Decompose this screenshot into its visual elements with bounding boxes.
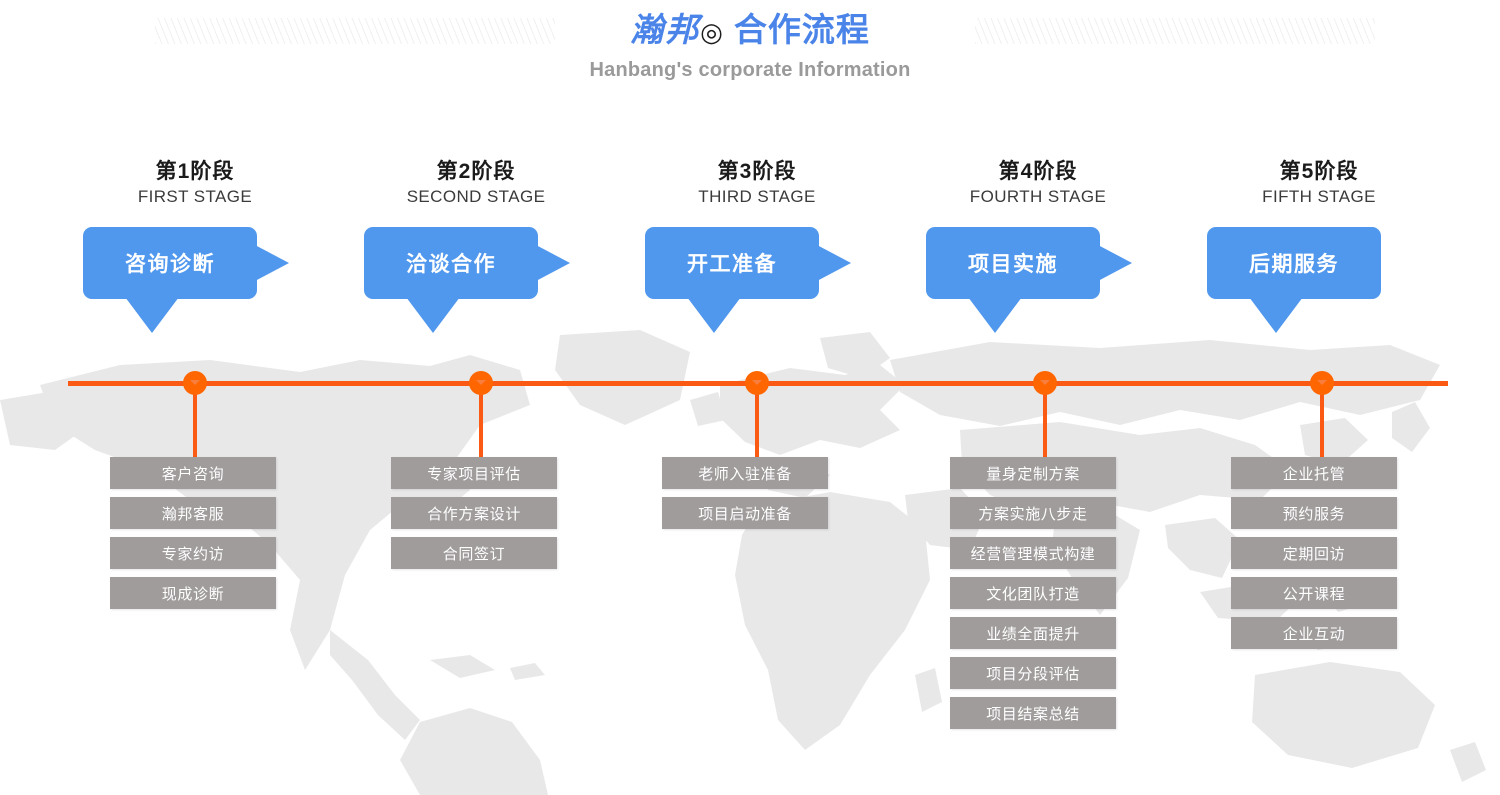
stage-item[interactable]: 项目结案总结 xyxy=(950,697,1116,729)
stage-callout[interactable]: 开工准备 xyxy=(617,227,897,337)
stage-item-label: 合作方案设计 xyxy=(427,503,521,524)
page-title: 瀚邦◎合作流程 xyxy=(0,8,1500,54)
timeline-connector-5 xyxy=(1320,386,1324,457)
callout-box[interactable]: 咨询诊断 xyxy=(83,227,257,299)
timeline-marker-3[interactable] xyxy=(745,371,769,395)
stage-item[interactable]: 预约服务 xyxy=(1231,497,1397,529)
stage-item[interactable]: 客户咨询 xyxy=(110,457,276,489)
stage-item[interactable]: 方案实施八步走 xyxy=(950,497,1116,529)
stage-item[interactable]: 专家项目评估 xyxy=(391,457,557,489)
stage-callout[interactable]: 咨询诊断 xyxy=(55,227,335,337)
stage-item[interactable]: 文化团队打造 xyxy=(950,577,1116,609)
callout-arrow-icon xyxy=(536,245,570,281)
stage-item-label: 经营管理模式构建 xyxy=(971,543,1096,564)
stage-title-en: FOURTH STAGE xyxy=(898,185,1178,209)
stage-column-5: 第5阶段FIFTH STAGE后期服务 xyxy=(1179,158,1459,337)
stage-item-list-4: 量身定制方案方案实施八步走经营管理模式构建文化团队打造业绩全面提升项目分段评估项… xyxy=(950,457,1116,737)
stage-item[interactable]: 现成诊断 xyxy=(110,577,276,609)
stage-item[interactable]: 经营管理模式构建 xyxy=(950,537,1116,569)
stage-item-list-2: 专家项目评估合作方案设计合同签订 xyxy=(391,457,557,577)
callout-tail-icon xyxy=(687,297,741,333)
callout-label: 开工准备 xyxy=(687,248,777,278)
stage-item-label: 企业互动 xyxy=(1283,623,1345,644)
timeline-marker-1[interactable] xyxy=(183,371,207,395)
callout-box[interactable]: 项目实施 xyxy=(926,227,1100,299)
callout-label: 后期服务 xyxy=(1249,248,1339,278)
stage-item[interactable]: 企业互动 xyxy=(1231,617,1397,649)
stage-title-cn: 第1阶段 xyxy=(55,158,335,185)
stage-item-label: 现成诊断 xyxy=(162,583,224,604)
stage-item-label: 量身定制方案 xyxy=(986,463,1080,484)
stage-callout[interactable]: 后期服务 xyxy=(1179,227,1459,337)
timeline-connector-1 xyxy=(193,386,197,457)
stage-item-label: 项目结案总结 xyxy=(986,703,1080,724)
page-header: 瀚邦◎合作流程 Hanbang's corporate Information xyxy=(0,8,1500,82)
timeline-connector-2 xyxy=(479,386,483,457)
stage-item-label: 公开课程 xyxy=(1283,583,1345,604)
timeline-connector-4 xyxy=(1043,386,1047,457)
timeline-marker-5[interactable] xyxy=(1310,371,1334,395)
brand-name: 瀚邦 xyxy=(630,11,700,48)
timeline-marker-2[interactable] xyxy=(469,371,493,395)
stage-item-label: 方案实施八步走 xyxy=(978,503,1087,524)
callout-arrow-icon xyxy=(817,245,851,281)
infographic-canvas: 瀚邦◎合作流程 Hanbang's corporate Information … xyxy=(0,0,1500,795)
stage-item-label: 专家约访 xyxy=(162,543,224,564)
stage-item-label: 业绩全面提升 xyxy=(986,623,1080,644)
stage-item-label: 项目分段评估 xyxy=(986,663,1080,684)
stage-column-4: 第4阶段FOURTH STAGE项目实施 xyxy=(898,158,1178,337)
callout-tail-icon xyxy=(1249,297,1303,333)
stage-item[interactable]: 项目启动准备 xyxy=(662,497,828,529)
page-subtitle: Hanbang's corporate Information xyxy=(0,59,1500,82)
stage-item-label: 预约服务 xyxy=(1283,503,1345,524)
stage-title-en: FIRST STAGE xyxy=(55,185,335,209)
callout-label: 洽谈合作 xyxy=(406,248,496,278)
stage-item-label: 专家项目评估 xyxy=(427,463,521,484)
callout-box[interactable]: 洽谈合作 xyxy=(364,227,538,299)
callout-box[interactable]: 开工准备 xyxy=(645,227,819,299)
stage-item[interactable]: 定期回访 xyxy=(1231,537,1397,569)
callout-label: 咨询诊断 xyxy=(125,248,215,278)
stage-item[interactable]: 专家约访 xyxy=(110,537,276,569)
stage-callout[interactable]: 洽谈合作 xyxy=(336,227,616,337)
stage-item[interactable]: 企业托管 xyxy=(1231,457,1397,489)
stage-title-cn: 第2阶段 xyxy=(336,158,616,185)
callout-tail-icon xyxy=(125,297,179,333)
stage-column-3: 第3阶段THIRD STAGE开工准备 xyxy=(617,158,897,337)
timeline-connector-3 xyxy=(755,386,759,457)
brand-mark-icon: ◎ xyxy=(700,17,724,47)
stage-item-label: 瀚邦客服 xyxy=(162,503,224,524)
callout-tail-icon xyxy=(406,297,460,333)
stage-item-list-1: 客户咨询瀚邦客服专家约访现成诊断 xyxy=(110,457,276,617)
stage-callout[interactable]: 项目实施 xyxy=(898,227,1178,337)
stage-item-label: 项目启动准备 xyxy=(698,503,792,524)
stage-item[interactable]: 合同签订 xyxy=(391,537,557,569)
stage-item-label: 定期回访 xyxy=(1283,543,1345,564)
stage-item-label: 客户咨询 xyxy=(162,463,224,484)
stage-item[interactable]: 合作方案设计 xyxy=(391,497,557,529)
stage-item-list-3: 老师入驻准备项目启动准备 xyxy=(662,457,828,537)
stage-item[interactable]: 量身定制方案 xyxy=(950,457,1116,489)
stage-item-label: 企业托管 xyxy=(1283,463,1345,484)
stage-item-label: 合同签订 xyxy=(443,543,505,564)
callout-arrow-icon xyxy=(1098,245,1132,281)
stage-item[interactable]: 业绩全面提升 xyxy=(950,617,1116,649)
stage-item[interactable]: 项目分段评估 xyxy=(950,657,1116,689)
stage-item[interactable]: 老师入驻准备 xyxy=(662,457,828,489)
timeline-marker-4[interactable] xyxy=(1033,371,1057,395)
page-title-text: 合作流程 xyxy=(734,11,870,48)
stage-title-en: THIRD STAGE xyxy=(617,185,897,209)
callout-arrow-icon xyxy=(255,245,289,281)
stage-title-cn: 第3阶段 xyxy=(617,158,897,185)
stage-column-1: 第1阶段FIRST STAGE咨询诊断 xyxy=(55,158,335,337)
callout-box[interactable]: 后期服务 xyxy=(1207,227,1381,299)
stage-title-cn: 第5阶段 xyxy=(1179,158,1459,185)
stage-title-en: FIFTH STAGE xyxy=(1179,185,1459,209)
stage-item[interactable]: 瀚邦客服 xyxy=(110,497,276,529)
stage-item-label: 老师入驻准备 xyxy=(698,463,792,484)
callout-label: 项目实施 xyxy=(968,248,1058,278)
stage-column-2: 第2阶段SECOND STAGE洽谈合作 xyxy=(336,158,616,337)
callout-tail-icon xyxy=(968,297,1022,333)
stage-title-cn: 第4阶段 xyxy=(898,158,1178,185)
stage-item-label: 文化团队打造 xyxy=(986,583,1080,604)
stage-item-list-5: 企业托管预约服务定期回访公开课程企业互动 xyxy=(1231,457,1397,657)
stage-title-en: SECOND STAGE xyxy=(336,185,616,209)
stage-item[interactable]: 公开课程 xyxy=(1231,577,1397,609)
